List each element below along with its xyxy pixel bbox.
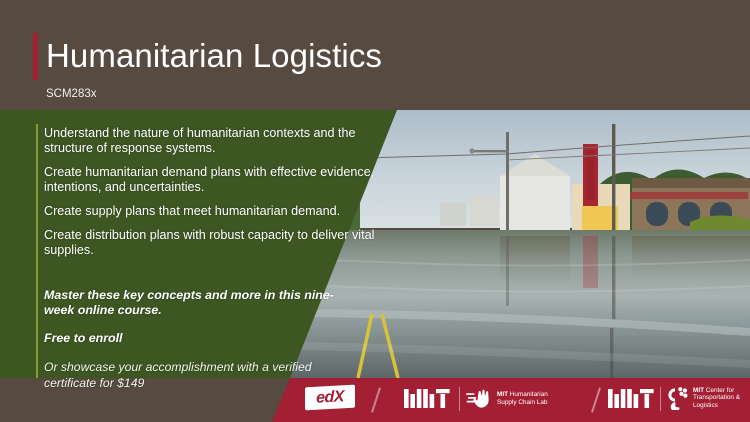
- title-accent-bar: [33, 33, 38, 80]
- list-item: Understand the nature of humanitarian co…: [44, 126, 379, 156]
- course-code: SCM283x: [46, 87, 97, 101]
- lab-name-line2: Supply Chain Lab: [497, 399, 548, 407]
- ctl-name-line1: MIT Center for: [693, 387, 740, 395]
- ctl-name-rest: Center for: [704, 387, 734, 394]
- list-item: Create humanitarian demand plans with ef…: [44, 165, 379, 195]
- objectives-list: Understand the nature of humanitarian co…: [44, 126, 379, 258]
- tagline-text: Master these key concepts and more in th…: [44, 288, 354, 318]
- enroll-text: Free to enroll: [44, 331, 123, 346]
- ctl-mark-icon: [666, 386, 688, 410]
- hand-icon: [466, 388, 492, 409]
- edx-logo[interactable]: edX: [305, 385, 355, 411]
- logo-separator-2: [459, 387, 460, 411]
- list-item: Create distribution plans with robust ca…: [44, 228, 379, 258]
- mit-wordmark-icon: [404, 389, 450, 408]
- mit-ctl-logo[interactable]: MIT Center for Transportation & Logistic…: [666, 386, 740, 410]
- course-promo-slide: Humanitarian Logistics SCM283x Understan…: [0, 0, 750, 422]
- edx-wordmark: edX: [316, 389, 344, 406]
- mit-humanitarian-supply-chain-lab-logo[interactable]: MIT Humanitarian Supply Chain Lab: [466, 388, 548, 409]
- mit-wordmark-icon: [608, 389, 654, 408]
- panel-accent-line: [36, 124, 38, 378]
- ctl-name-line2: Transportation &: [693, 394, 740, 402]
- ctl-name-line3: Logistics: [693, 402, 740, 410]
- lab-name-rest: Humanitarian: [508, 391, 548, 398]
- mit-logo-2[interactable]: [608, 389, 654, 408]
- mit-logo-1[interactable]: [404, 389, 450, 408]
- page-title: Humanitarian Logistics: [46, 32, 382, 79]
- ctl-mit-bold: MIT: [693, 387, 704, 394]
- lab-mit-bold: MIT: [497, 391, 508, 398]
- list-item: Create supply plans that meet humanitari…: [44, 204, 379, 219]
- logo-separator-4: [660, 387, 661, 411]
- lab-name-line1: MIT Humanitarian: [497, 391, 548, 399]
- header-bar: Humanitarian Logistics SCM283x: [0, 0, 750, 110]
